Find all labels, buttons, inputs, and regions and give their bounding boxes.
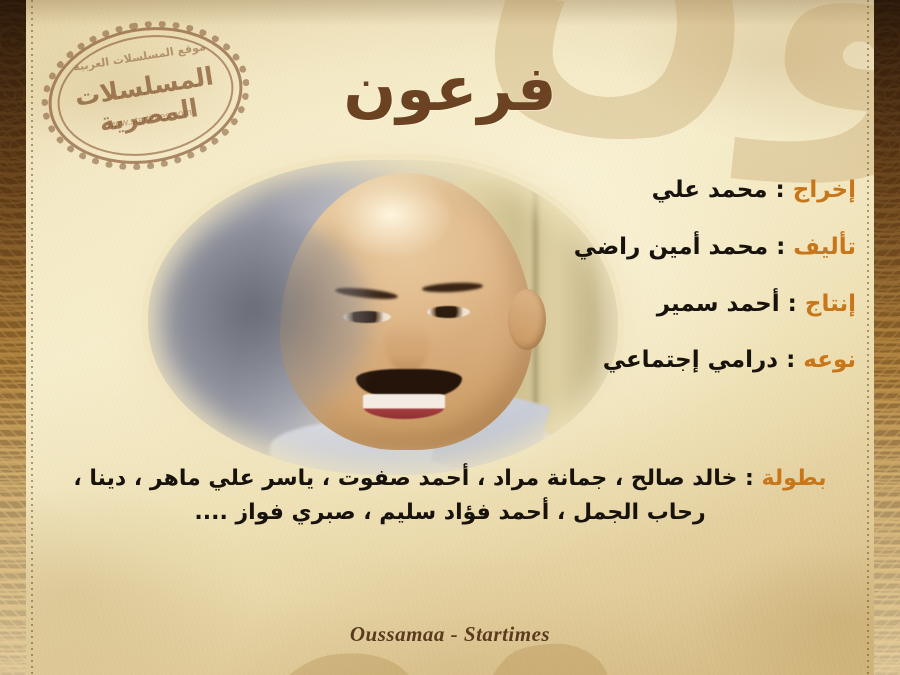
credit-row-director: إخراج : محمد علي bbox=[386, 176, 856, 205]
cast-label: بطولة bbox=[761, 466, 826, 491]
cast-names-line-1: خالد صالح ، جمانة مراد ، أحمد صفوت ، ياس… bbox=[73, 466, 737, 491]
credit-label-producer: إنتاج bbox=[805, 291, 856, 317]
credit-separator-writer: : bbox=[776, 234, 785, 260]
credit-label-writer: تأليف bbox=[793, 234, 856, 260]
credit-value-producer: أحمد سمير bbox=[657, 291, 780, 317]
credit-label-director: إخراج bbox=[793, 177, 856, 203]
credit-value-genre: درامي إجتماعي bbox=[603, 347, 778, 373]
top-shadow-gradient bbox=[0, 0, 900, 26]
page-title: فرعون bbox=[0, 52, 900, 125]
footer-credit: Oussamaa - Startimes bbox=[0, 622, 900, 647]
credit-row-genre: نوعه : درامي إجتماعي bbox=[386, 346, 856, 375]
credit-separator-director: : bbox=[776, 177, 785, 203]
cast-line-2: رحاب الجمل ، أحمد فؤاد سليم ، صبري فواز … bbox=[42, 496, 858, 530]
credit-separator-genre: : bbox=[786, 347, 795, 373]
credit-row-producer: إنتاج : أحمد سمير bbox=[386, 290, 856, 319]
credits-list: إخراج : محمد علي تأليف : محمد أمين راضي … bbox=[386, 176, 856, 403]
calligraphy-watermark-bottom-left: مصر bbox=[0, 505, 640, 675]
cast-separator: : bbox=[745, 466, 754, 491]
credit-row-writer: تأليف : محمد أمين راضي bbox=[386, 233, 856, 262]
credit-value-writer: محمد أمين راضي bbox=[574, 234, 768, 260]
cast-block: بطولة : خالد صالح ، جمانة مراد ، أحمد صف… bbox=[42, 462, 858, 530]
actor-eye-left bbox=[343, 311, 391, 323]
credit-label-genre: نوعه bbox=[803, 347, 856, 373]
series-info-card: مصر ون ع موقع المسلسلات العربية المسلسلا… bbox=[0, 0, 900, 675]
cast-line-1: بطولة : خالد صالح ، جمانة مراد ، أحمد صف… bbox=[42, 462, 858, 496]
credit-value-director: محمد علي bbox=[652, 177, 768, 203]
credit-separator-producer: : bbox=[788, 291, 797, 317]
